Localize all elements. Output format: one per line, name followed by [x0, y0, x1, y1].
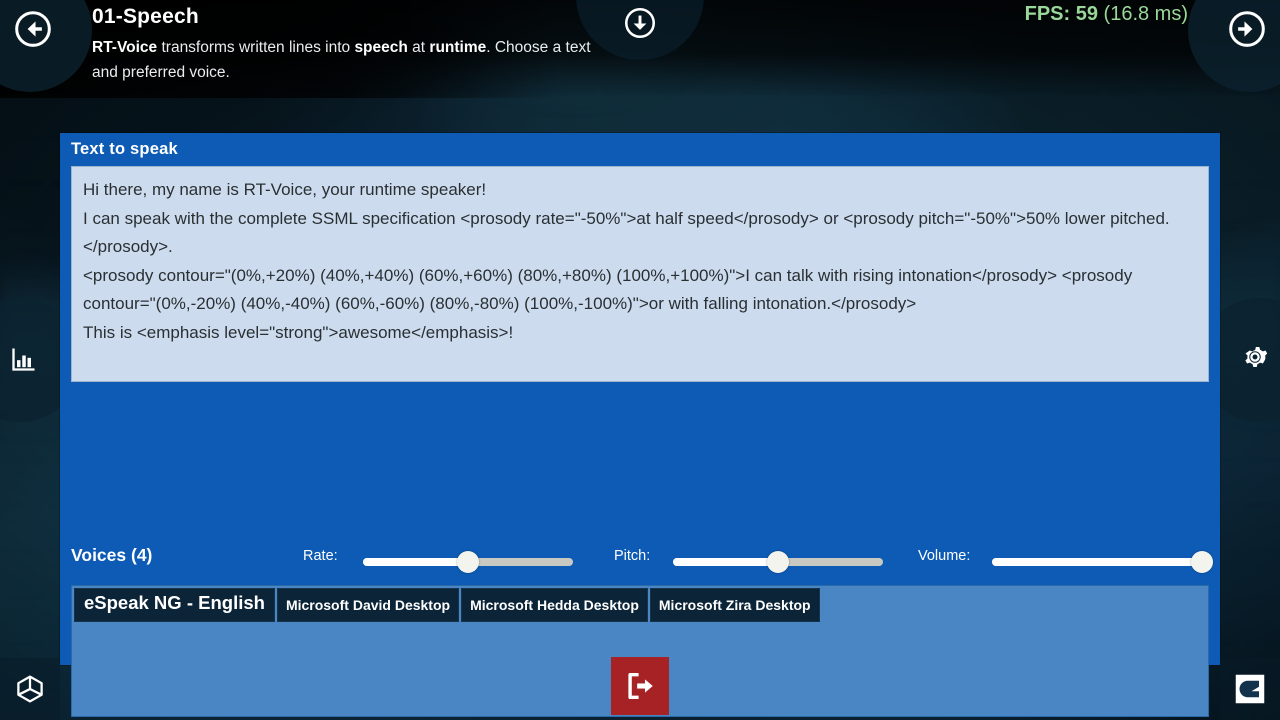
pitch-slider-handle[interactable]	[767, 551, 789, 573]
crosstales-button[interactable]	[1220, 658, 1280, 720]
voice-button[interactable]: Microsoft Zira Desktop	[650, 588, 820, 622]
arrow-left-circle-icon	[14, 10, 52, 48]
header: 01-Speech RT-Voice transforms written li…	[92, 4, 612, 85]
fps-value: FPS: 59	[1025, 3, 1098, 25]
volume-slider[interactable]	[992, 555, 1202, 569]
desc-bold-runtime: runtime	[429, 39, 486, 56]
download-button[interactable]	[624, 7, 656, 44]
arrow-down-circle-icon	[624, 7, 656, 39]
desc-bold-rtvoice: RT-Voice	[92, 39, 157, 56]
voices-strip: eSpeak NG - EnglishMicrosoft David Deskt…	[72, 586, 1208, 622]
gear-icon	[1240, 342, 1270, 372]
voice-button[interactable]: Microsoft David Desktop	[277, 588, 459, 622]
statistics-button[interactable]	[10, 345, 38, 378]
unity-logo-icon	[13, 672, 47, 706]
volume-slider-fill	[992, 558, 1202, 566]
volume-slider-handle[interactable]	[1191, 551, 1213, 573]
controls-row: Voices (4) Rate: Pitch: Volume:	[60, 538, 1220, 586]
volume-label: Volume:	[918, 548, 970, 564]
pitch-slider-fill	[673, 558, 778, 566]
pitch-slider[interactable]	[673, 555, 883, 569]
desc-mid-1: transforms written lines into	[157, 39, 354, 56]
rate-slider-handle[interactable]	[457, 551, 479, 573]
bar-chart-icon	[10, 345, 38, 373]
rate-slider[interactable]	[363, 555, 573, 569]
settings-button[interactable]	[1240, 342, 1270, 377]
exit-icon	[623, 669, 657, 703]
voice-button[interactable]: eSpeak NG - English	[74, 588, 275, 622]
fps-frametime: (16.8 ms)	[1104, 3, 1188, 25]
back-button[interactable]	[14, 10, 52, 53]
pitch-label: Pitch:	[614, 548, 650, 564]
forward-button[interactable]	[1228, 10, 1266, 53]
arrow-right-circle-icon	[1228, 10, 1266, 48]
desc-mid-2: at	[408, 39, 430, 56]
voice-button[interactable]: Microsoft Hedda Desktop	[461, 588, 648, 622]
fps-counter: FPS: 59 (16.8 ms)	[1025, 3, 1188, 26]
rate-label: Rate:	[303, 548, 338, 564]
speech-panel: Text to speak Hi there, my name is RT-Vo…	[60, 133, 1220, 665]
text-to-speak-label: Text to speak	[60, 133, 1220, 166]
unity-button[interactable]	[0, 658, 60, 720]
app-root: 01-Speech RT-Voice transforms written li…	[0, 0, 1280, 720]
rate-slider-fill	[363, 558, 468, 566]
text-to-speak-input[interactable]: Hi there, my name is RT-Voice, your runt…	[71, 166, 1209, 382]
page-description: RT-Voice transforms written lines into s…	[92, 35, 612, 85]
desc-bold-speech: speech	[354, 39, 407, 56]
voices-count-label: Voices (4)	[71, 545, 152, 566]
crosstales-logo-icon	[1232, 671, 1268, 707]
exit-button[interactable]	[611, 657, 669, 715]
page-title: 01-Speech	[92, 4, 612, 30]
